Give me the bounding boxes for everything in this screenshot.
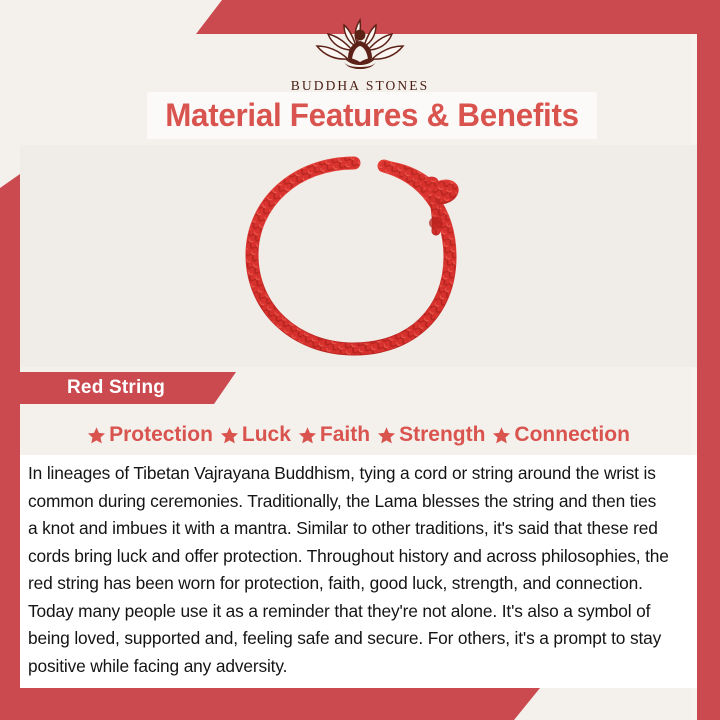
left-red-border	[0, 174, 20, 720]
benefit-item: Connection	[492, 423, 630, 447]
lotus-meditation-icon	[308, 14, 412, 76]
product-image-area	[20, 145, 697, 367]
brand-logo: BUDDHA STONES	[0, 14, 720, 94]
benefit-item: Protection	[87, 423, 213, 447]
star-icon	[377, 426, 396, 445]
benefit-item: Luck	[220, 423, 291, 447]
benefit-label: Connection	[514, 423, 630, 447]
benefits-list: Protection Luck Faith Strength Connectio…	[20, 418, 697, 452]
product-name-ribbon: Red String	[20, 372, 236, 404]
title-band: Material Features & Benefits	[147, 92, 597, 139]
star-icon	[220, 426, 239, 445]
star-icon	[87, 426, 106, 445]
description-text: In lineages of Tibetan Vajrayana Buddhis…	[28, 460, 669, 680]
benefit-item: Strength	[377, 423, 485, 447]
star-icon	[492, 426, 511, 445]
benefit-label: Faith	[320, 423, 370, 447]
page-header: BUDDHA STONES Material Features & Benefi…	[0, 0, 720, 145]
page-title: Material Features & Benefits	[165, 97, 579, 134]
product-name-label: Red String	[67, 377, 165, 399]
benefit-label: Protection	[109, 423, 213, 447]
infographic-page: BUDDHA STONES Material Features & Benefi…	[0, 0, 720, 720]
description-panel: In lineages of Tibetan Vajrayana Buddhis…	[20, 455, 697, 688]
bottom-red-banner	[0, 688, 540, 720]
benefit-label: Luck	[242, 423, 291, 447]
star-icon	[298, 426, 317, 445]
red-string-bracelet-image	[234, 151, 484, 361]
benefit-item: Faith	[298, 423, 370, 447]
benefit-label: Strength	[399, 423, 485, 447]
